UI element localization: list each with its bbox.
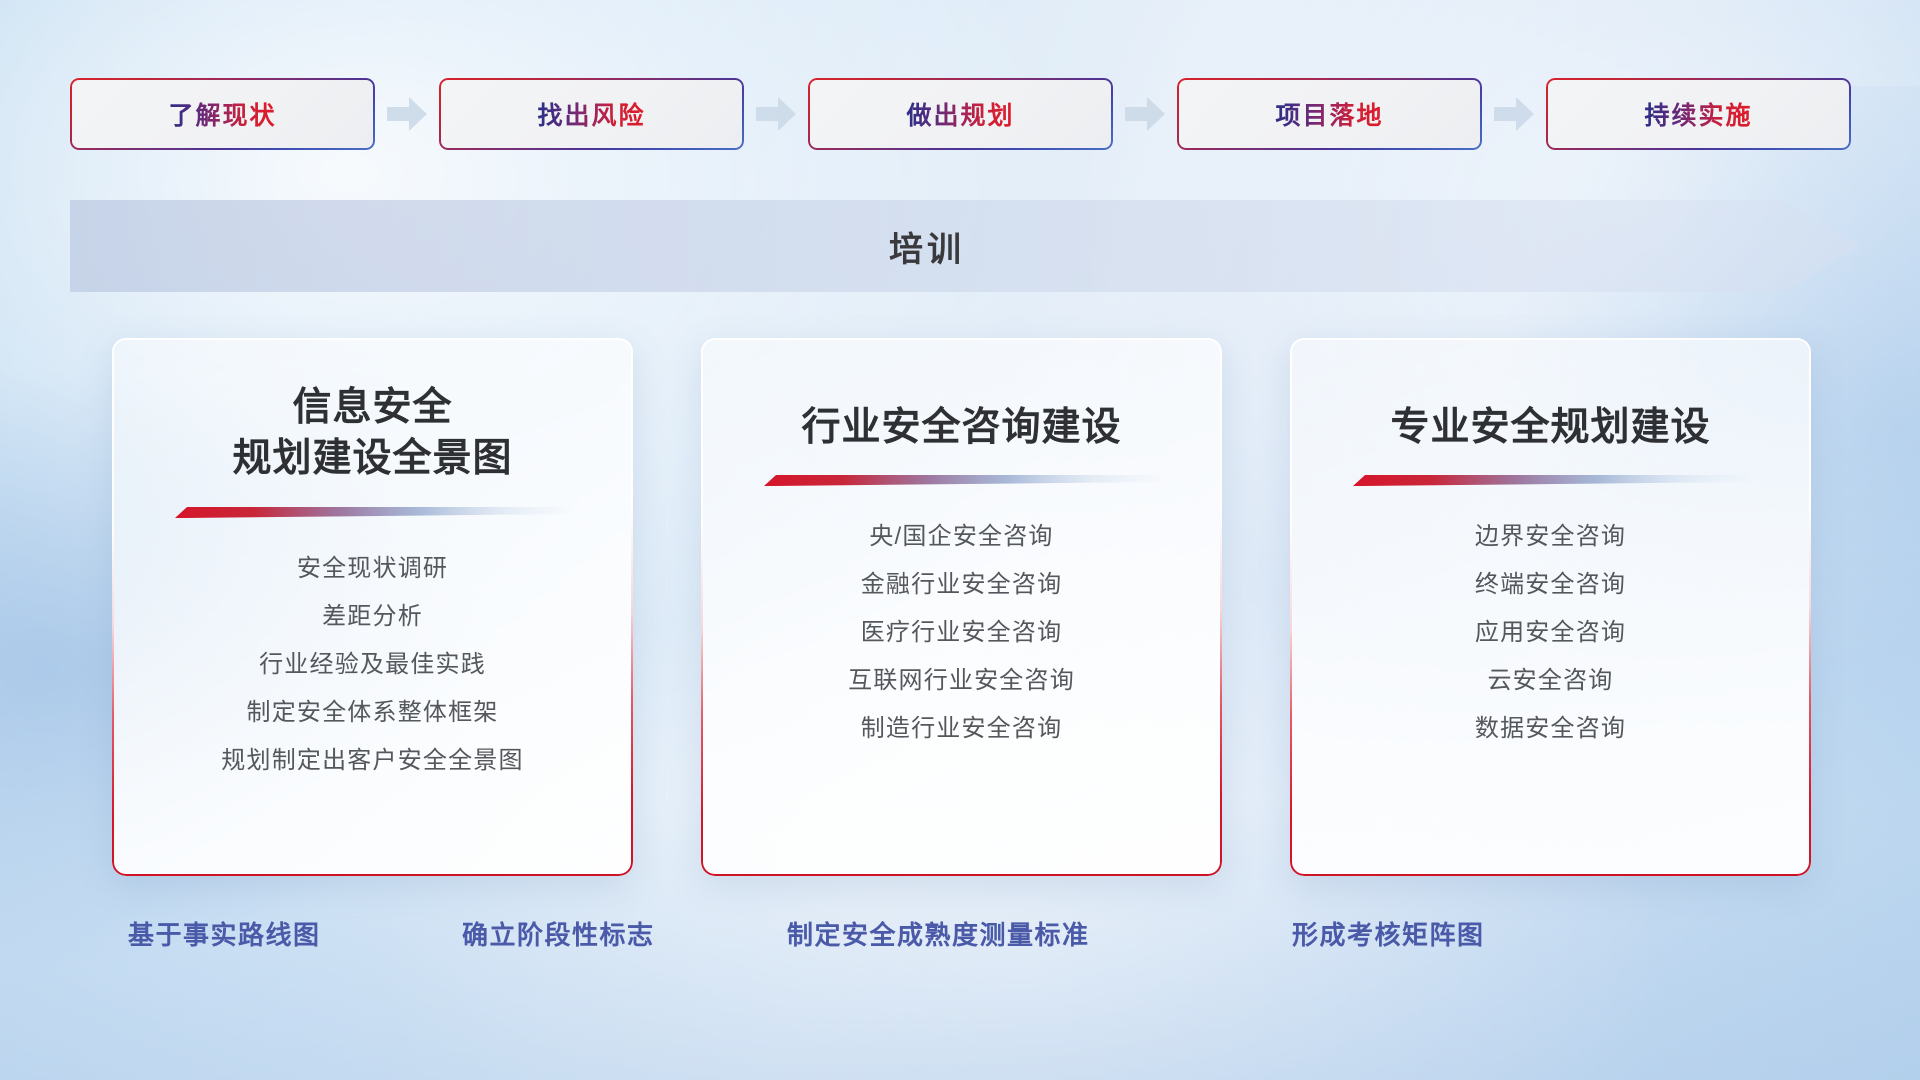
step-box-4[interactable]: 项目落地 <box>1177 78 1482 150</box>
list-item: 行业经验及最佳实践 <box>259 644 486 679</box>
caption-matrix: 形成考核矩阵图 <box>1292 915 1485 952</box>
list-item: 金融行业安全咨询 <box>861 564 1063 599</box>
process-step-row: 了解现状 找出风险 做出规划 项目落地 <box>70 78 1854 150</box>
list-item: 央/国企安全咨询 <box>869 516 1053 551</box>
step-box-1[interactable]: 了解现状 <box>70 78 375 150</box>
list-item: 数据安全咨询 <box>1475 708 1626 743</box>
list-item: 互联网行业安全咨询 <box>848 660 1075 695</box>
card-title-line: 行业安全咨询建设 <box>801 402 1121 453</box>
list-item: 制定安全体系整体框架 <box>247 692 499 727</box>
card-information-security[interactable]: 信息安全 规划建设全景图 <box>112 338 633 876</box>
caption-row: 基于事实路线图 确立阶段性标志 制定安全成熟度测量标准 形成考核矩阵图 <box>0 915 1920 963</box>
step-label: 项目落地 <box>1275 96 1383 132</box>
list-item: 云安全咨询 <box>1487 660 1613 695</box>
card-divider-icon <box>764 475 1160 486</box>
card-title-line: 专业安全规划建设 <box>1390 402 1710 453</box>
training-label-wrap: 培训 <box>70 200 1860 292</box>
list-item: 规划制定出客户安全全景图 <box>221 740 523 775</box>
arrow-right-icon <box>744 78 808 150</box>
list-item: 终端安全咨询 <box>1475 564 1626 599</box>
card-divider-icon <box>1353 475 1749 486</box>
step-box-2[interactable]: 找出风险 <box>439 78 744 150</box>
arrow-right-icon <box>375 78 439 150</box>
card-industry-security-consulting[interactable]: 行业安全咨询建设 <box>701 338 1222 876</box>
card-item-list: 边界安全咨询 终端安全咨询 应用安全咨询 云安全咨询 数据安全咨询 <box>1475 516 1626 743</box>
card-title: 信息安全 规划建设全景图 <box>232 382 512 485</box>
list-item: 差距分析 <box>322 596 423 631</box>
arrow-right-icon <box>1482 78 1546 150</box>
card-professional-security-planning[interactable]: 专业安全规划建设 <box>1290 338 1811 876</box>
card-title: 行业安全咨询建设 <box>801 402 1121 453</box>
caption-maturity: 制定安全成熟度测量标准 <box>787 915 1090 952</box>
card-title-line: 规划建设全景图 <box>232 433 512 484</box>
list-item: 应用安全咨询 <box>1475 612 1626 647</box>
card-divider-icon <box>175 507 571 518</box>
card-item-list: 安全现状调研 差距分析 行业经验及最佳实践 制定安全体系整体框架 规划制定出客户… <box>221 548 523 775</box>
step-label: 做出规划 <box>906 96 1014 132</box>
step-label: 了解现状 <box>168 96 276 132</box>
step-label: 找出风险 <box>537 96 645 132</box>
card-item-list: 央/国企安全咨询 金融行业安全咨询 医疗行业安全咨询 互联网行业安全咨询 制造行… <box>848 516 1075 743</box>
arrow-right-icon <box>1113 78 1177 150</box>
list-item: 边界安全咨询 <box>1475 516 1626 551</box>
card-row: 信息安全 规划建设全景图 <box>112 338 1812 876</box>
card-title-line: 信息安全 <box>232 382 512 433</box>
card-title: 专业安全规划建设 <box>1390 402 1710 453</box>
step-label: 持续实施 <box>1644 96 1752 132</box>
training-label: 培训 <box>889 222 965 271</box>
training-banner: 培训 <box>70 200 1860 292</box>
caption-roadmap: 基于事实路线图 <box>128 915 321 952</box>
step-box-3[interactable]: 做出规划 <box>808 78 1113 150</box>
list-item: 医疗行业安全咨询 <box>861 612 1063 647</box>
step-box-5[interactable]: 持续实施 <box>1546 78 1851 150</box>
caption-milestone: 确立阶段性标志 <box>462 915 655 952</box>
list-item: 安全现状调研 <box>297 548 448 583</box>
list-item: 制造行业安全咨询 <box>861 708 1063 743</box>
